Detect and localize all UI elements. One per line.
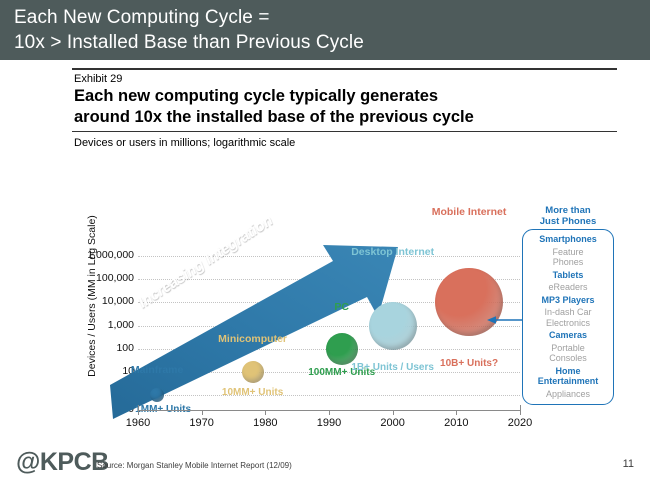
callout-item-home-entertainment[interactable]: HomeEntertainment (525, 365, 611, 388)
callout-item-line: Electronics (525, 318, 611, 329)
slide-title-line-2: 10x > Installed Base than Previous Cycle (14, 30, 650, 55)
slide-body: Exhibit 29 Each new computing cycle typi… (0, 60, 650, 440)
callout-item-smartphones[interactable]: Smartphones (525, 233, 611, 246)
kpcb-logo: @KPCB (16, 448, 109, 477)
callout-item-line: Home (525, 366, 611, 377)
callout-item-line: Cameras (525, 330, 611, 341)
x-axis-end-cap (520, 405, 521, 411)
callout-title: More than Just Phones (522, 205, 614, 229)
x-axis-tick-label: 1980 (235, 417, 295, 429)
callout-item-line: Portable (525, 343, 611, 354)
callout-title-line-1: More than (522, 205, 614, 216)
slide-title-bar: Each New Computing Cycle = 10x > Install… (0, 0, 650, 60)
callout-item-line: Feature (525, 247, 611, 258)
callout-item-portable-consoles[interactable]: PortableConsoles (525, 342, 611, 365)
callout-item-appliances[interactable]: Appliances (525, 388, 611, 401)
callout-item-line: Tablets (525, 270, 611, 281)
x-axis-tick-mark (329, 410, 330, 415)
x-axis-tick-mark (265, 410, 266, 415)
slide-footer: @KPCB Source: Morgan Stanley Mobile Inte… (0, 440, 650, 487)
callout-item-cameras[interactable]: Cameras (525, 329, 611, 342)
callout-item-mp3-players[interactable]: MP3 Players (525, 294, 611, 307)
page-number: 11 (623, 458, 634, 470)
bubble-label-mobile-internet: Mobile Internet (399, 206, 539, 218)
bubble-desktop-internet[interactable] (369, 302, 417, 350)
bubble-pc[interactable] (326, 333, 358, 365)
callout-item-line: Appliances (525, 389, 611, 400)
callout-item-line: In-dash Car (525, 307, 611, 318)
callout-connector-arrow (487, 315, 523, 325)
callout-item-line: Entertainment (525, 376, 611, 387)
callout-list-box: SmartphonesFeaturePhonesTabletseReadersM… (522, 229, 614, 405)
more-than-just-phones-callout: More than Just Phones SmartphonesFeature… (522, 205, 614, 405)
callout-item-line: eReaders (525, 282, 611, 293)
callout-item-line: Consoles (525, 353, 611, 364)
x-axis-tick-mark (393, 410, 394, 415)
callout-item-line: MP3 Players (525, 295, 611, 306)
bubble-minicomputer[interactable] (242, 361, 264, 383)
bubble-value-mobile-internet: 10B+ Units? (409, 358, 529, 370)
callout-item-line: Smartphones (525, 234, 611, 245)
bubble-label-mainframe: Mainframe (87, 364, 227, 376)
source-note: Source: Morgan Stanley Mobile Internet R… (97, 461, 292, 470)
x-axis-tick-label: 2000 (363, 417, 423, 429)
x-axis-tick-label: 1960 (108, 417, 168, 429)
bubble-label-minicomputer: Minicomputer (183, 333, 323, 345)
bubble-mobile-internet[interactable] (435, 268, 503, 336)
x-axis-tick-label: 1970 (172, 417, 232, 429)
callout-item-line: Phones (525, 257, 611, 268)
callout-item-ereaders[interactable]: eReaders (525, 281, 611, 294)
slide-title-line-1: Each New Computing Cycle = (14, 5, 650, 30)
x-axis-tick-label: 1990 (299, 417, 359, 429)
bubble-label-desktop-internet: Desktop Internet (323, 246, 463, 258)
x-axis-tick-label: 2010 (426, 417, 486, 429)
x-axis-tick-label: 2020 (490, 417, 550, 429)
x-axis-end-cap (138, 405, 139, 411)
bubble-mainframe[interactable] (150, 388, 164, 402)
callout-item-tablets[interactable]: Tablets (525, 269, 611, 282)
callout-item-feature-phones[interactable]: FeaturePhones (525, 246, 611, 269)
callout-item-in-dash-car-electronics[interactable]: In-dash CarElectronics (525, 306, 611, 329)
callout-title-line-2: Just Phones (522, 216, 614, 227)
x-axis-tick-mark (456, 410, 457, 415)
x-axis-tick-mark (202, 410, 203, 415)
bubble-value-minicomputer: 10MM+ Units (193, 387, 313, 399)
chart-plot-area: Devices / Users (MM in Log Scale) 1,000,… (0, 60, 650, 440)
